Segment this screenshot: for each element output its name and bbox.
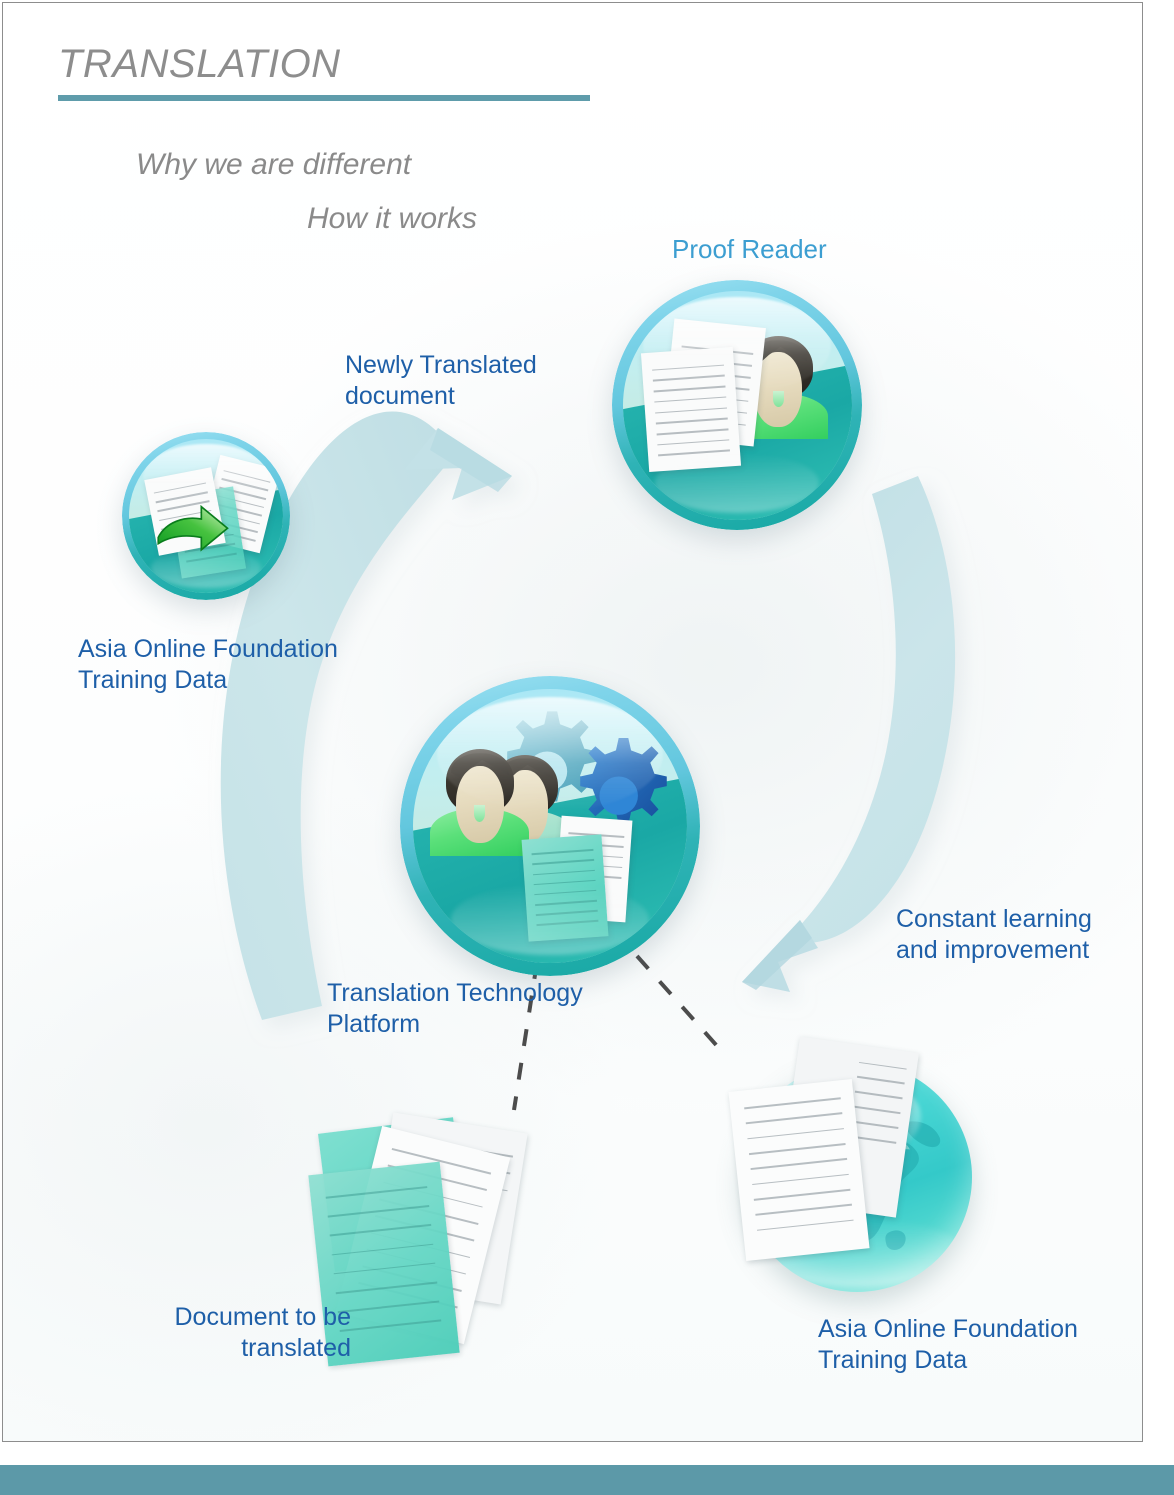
translation-technology-platform-icon[interactable] xyxy=(400,676,700,976)
document-to-be-translated-icon[interactable] xyxy=(322,1120,542,1360)
proof-reader-icon[interactable] xyxy=(612,280,862,530)
bubble-gloss-bottom xyxy=(451,884,649,955)
label-constant-learning-and-improvement: Constant learning and improvement xyxy=(896,904,1092,966)
label-translation-technology-platform: Translation Technology Platform xyxy=(327,978,583,1040)
footer-accent-bar xyxy=(0,1465,1174,1495)
aof-training-data-left-icon[interactable] xyxy=(122,432,290,600)
bubble-gloss-top xyxy=(437,697,662,812)
bubble-gloss-top xyxy=(643,297,831,393)
bubble-inner xyxy=(413,689,688,964)
slide-page: TRANSLATION Why we are different How it … xyxy=(0,0,1174,1495)
label-proof-reader: Proof Reader xyxy=(672,234,827,265)
aof-training-data-right-icon[interactable] xyxy=(742,1062,972,1292)
label-document-to-be-translated: Document to be translated xyxy=(146,1302,351,1364)
bubble-inner xyxy=(129,439,283,593)
label-aof-training-data-right: Asia Online Foundation Training Data xyxy=(818,1314,1078,1376)
bubble-gloss-bottom xyxy=(655,453,820,513)
person-collar xyxy=(773,391,784,407)
dash-to-globe-line xyxy=(637,956,726,1056)
document-sheet-front xyxy=(729,1079,870,1261)
bubble-inner xyxy=(623,291,852,520)
label-newly-translated-document: Newly Translated document xyxy=(345,350,537,412)
bubble-gloss-top xyxy=(143,444,269,509)
label-aof-training-data-left: Asia Online Foundation Training Data xyxy=(78,634,338,696)
